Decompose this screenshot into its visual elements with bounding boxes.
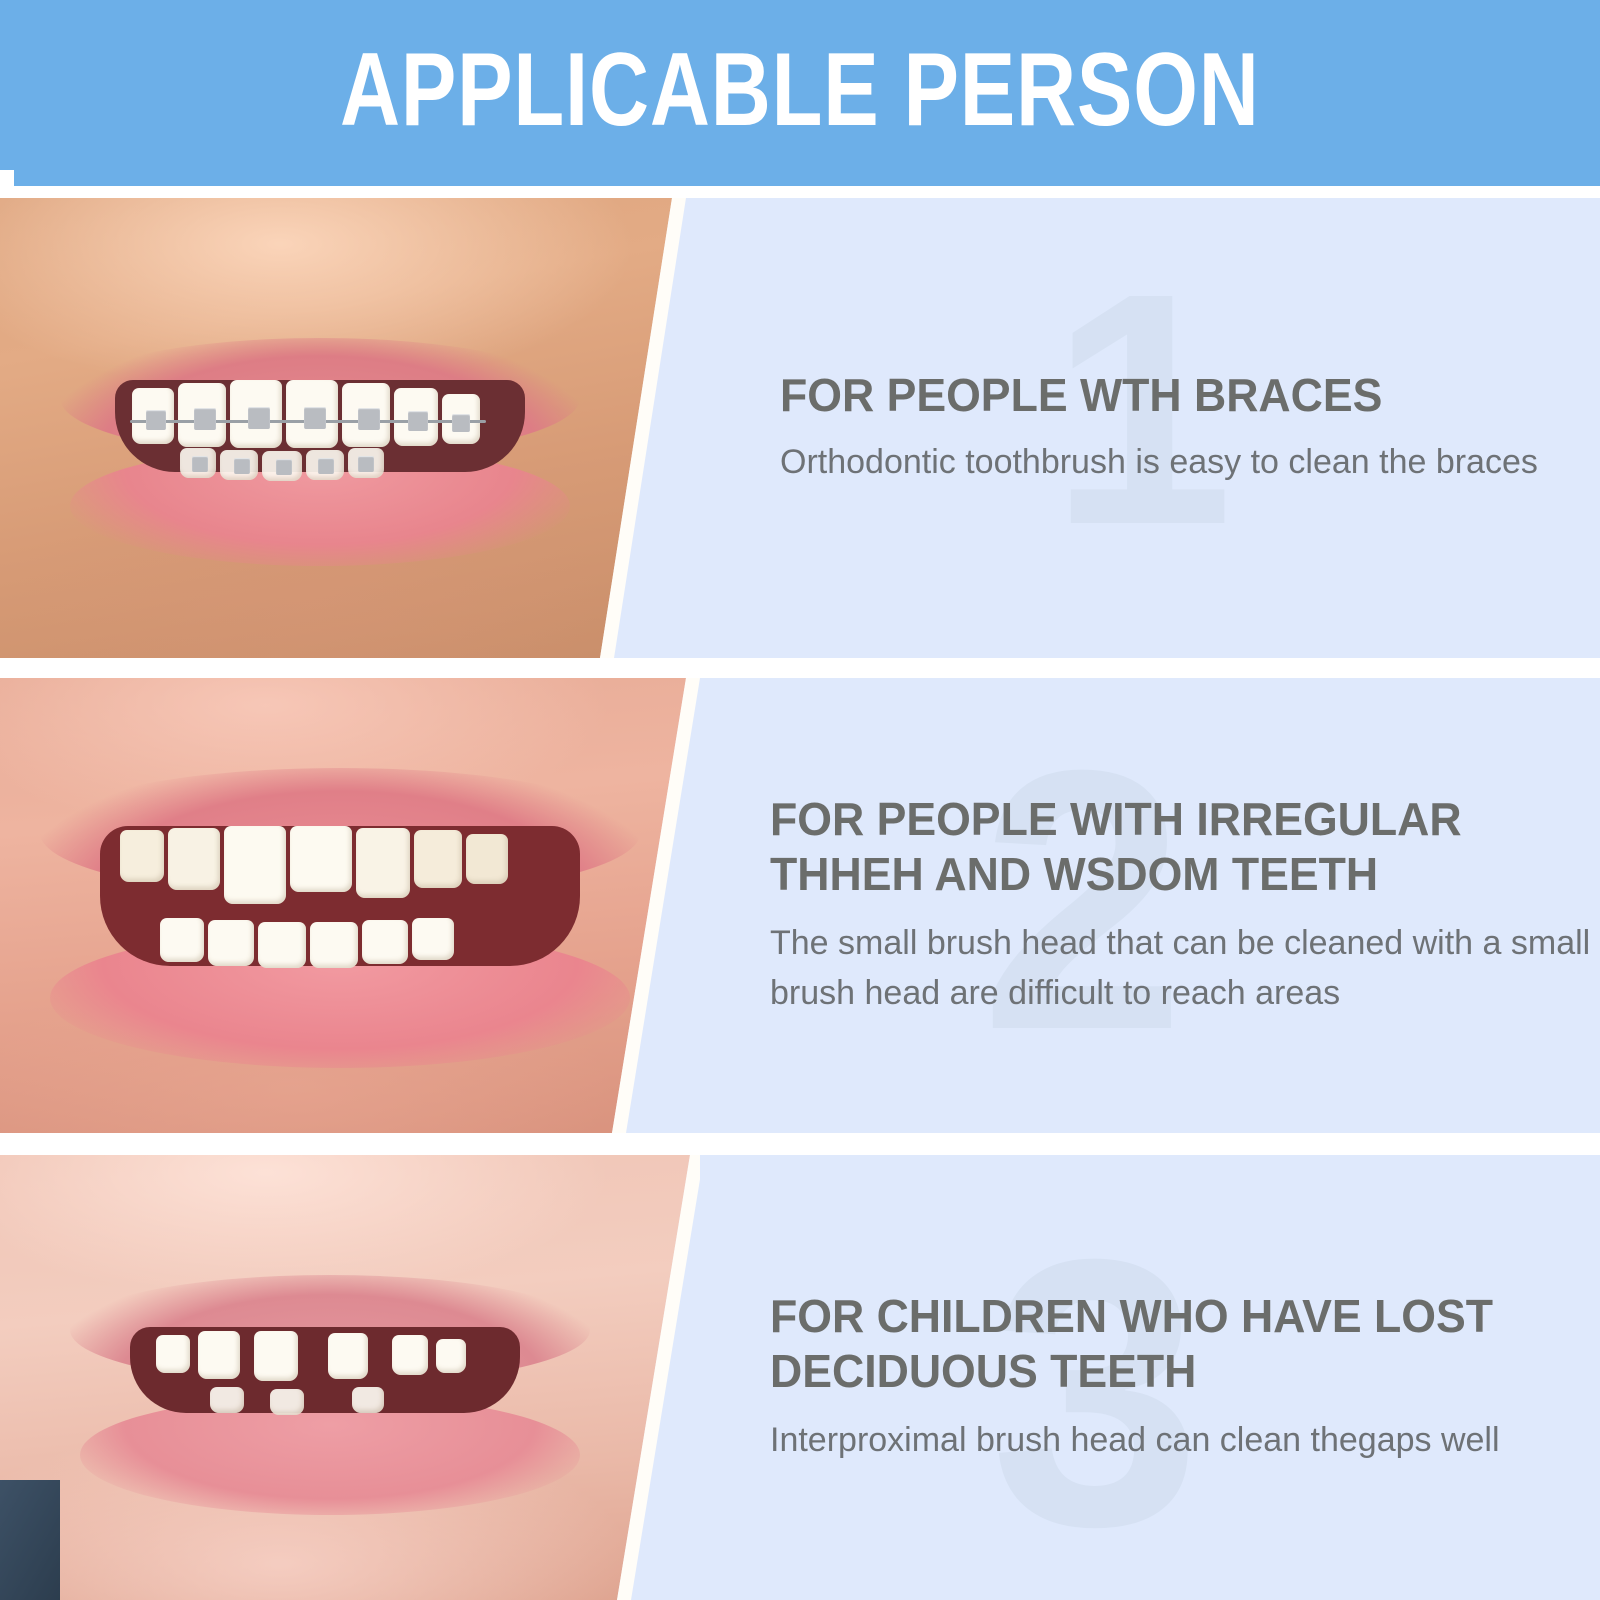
mouth-missing-teeth: [70, 1275, 590, 1505]
section-3-photo: [0, 1155, 700, 1600]
section-3-text: 3 FOR CHILDREN WHO HAVE LOST DECIDUOUS T…: [760, 1155, 1600, 1600]
lower-lip: [80, 1395, 580, 1515]
section-2-heading: FOR PEOPLE WITH IRREGULAR THHEH AND WSDO…: [770, 792, 1575, 901]
section-row-1: 1 FOR PEOPLE WTH BRACES Orthodontic toot…: [0, 198, 1600, 658]
page-title: APPLICABLE PERSON: [340, 38, 1260, 142]
section-2-text: 2 FOR PEOPLE WITH IRREGULAR THHEH AND WS…: [760, 678, 1600, 1133]
section-row-2: 2 FOR PEOPLE WITH IRREGULAR THHEH AND WS…: [0, 678, 1600, 1133]
section-1-heading: FOR PEOPLE WTH BRACES: [780, 368, 1575, 422]
clothing-corner: [0, 1480, 60, 1600]
section-2-photo: [0, 678, 700, 1133]
mouth-irregular-teeth: [40, 768, 640, 1058]
section-row-3: 3 FOR CHILDREN WHO HAVE LOST DECIDUOUS T…: [0, 1155, 1600, 1600]
section-1-text: 1 FOR PEOPLE WTH BRACES Orthodontic toot…: [760, 198, 1600, 658]
section-1-body: Orthodontic toothbrush is easy to clean …: [780, 438, 1600, 488]
section-3-body: Interproximal brush head can clean thega…: [770, 1416, 1600, 1466]
header-banner: APPLICABLE PERSON: [0, 0, 1600, 186]
section-2-body: The small brush head that can be cleaned…: [770, 919, 1600, 1019]
header-corner-notch: [0, 170, 14, 188]
watermark-number-2: 2: [980, 716, 1186, 1086]
mouth-with-braces: [60, 328, 580, 558]
infographic-page: APPLICABLE PERSON: [0, 0, 1600, 1600]
section-3-heading: FOR CHILDREN WHO HAVE LOST DECIDUOUS TEE…: [770, 1289, 1575, 1398]
section-1-photo: [0, 198, 700, 658]
